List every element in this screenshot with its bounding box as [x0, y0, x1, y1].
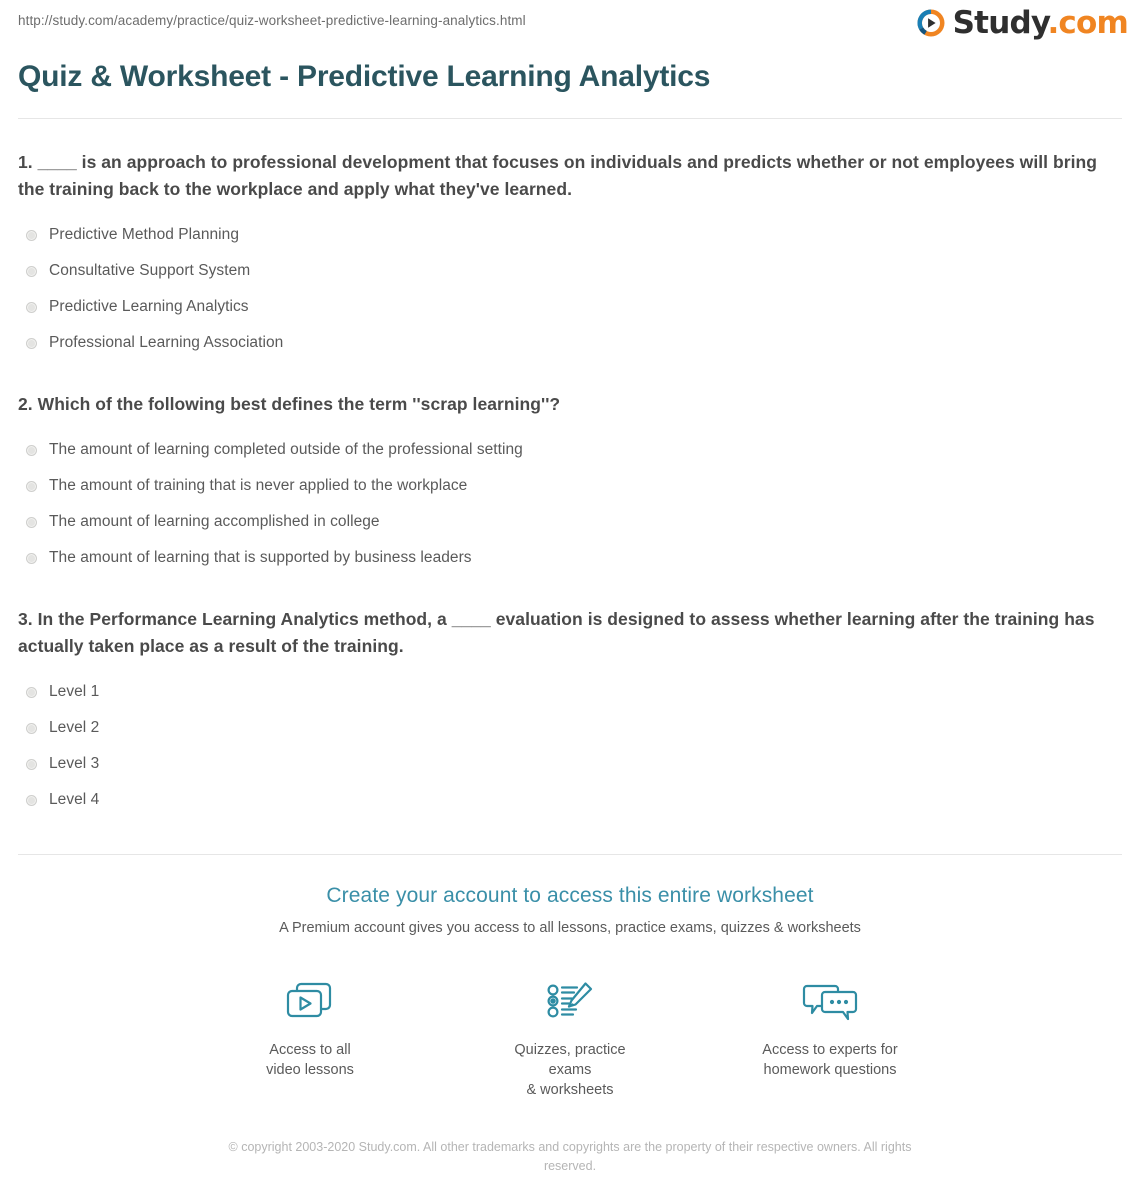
- logo-word-study: Study: [953, 5, 1048, 41]
- feature-label-quizzes: Quizzes, practice exams & worksheets: [494, 1040, 646, 1100]
- option-label: Predictive Learning Analytics: [49, 296, 249, 318]
- options-list-3: Level 1 Level 2 Level 3 Level 4: [18, 674, 1122, 818]
- feature-label-experts: Access to experts for homework questions: [754, 1040, 906, 1080]
- quiz-pencil-icon: [494, 975, 646, 1027]
- option-label: Level 1: [49, 681, 99, 703]
- radio-button-icon[interactable]: [26, 553, 37, 564]
- chat-bubbles-icon: [754, 975, 906, 1027]
- feature-experts: Access to experts for homework questions: [754, 975, 906, 1100]
- options-list-1: Predictive Method Planning Consultative …: [18, 217, 1122, 361]
- video-lessons-icon: [234, 975, 386, 1027]
- questions-container: 1. ____ is an approach to professional d…: [0, 119, 1140, 818]
- option-label: Level 3: [49, 753, 99, 775]
- radio-button-icon[interactable]: [26, 445, 37, 456]
- question-number-3: 3.: [18, 609, 33, 629]
- feature-label-line2: video lessons: [266, 1062, 354, 1078]
- logo-wordmark: Study.com: [953, 8, 1128, 38]
- option-row[interactable]: Predictive Method Planning: [18, 217, 1122, 253]
- feature-label-line2: & worksheets: [526, 1082, 613, 1098]
- features-row: Access to all video lessons: [0, 975, 1140, 1100]
- feature-label-line2: homework questions: [764, 1062, 897, 1078]
- feature-label-video: Access to all video lessons: [234, 1040, 386, 1080]
- options-list-2: The amount of learning completed outside…: [18, 432, 1122, 576]
- option-row[interactable]: Consultative Support System: [18, 253, 1122, 289]
- logo-word-com: .com: [1047, 5, 1128, 41]
- page-title: Quiz & Worksheet - Predictive Learning A…: [18, 58, 1122, 118]
- title-section: Quiz & Worksheet - Predictive Learning A…: [0, 52, 1140, 118]
- radio-button-icon[interactable]: [26, 338, 37, 349]
- question-text-1: 1. ____ is an approach to professional d…: [18, 149, 1122, 203]
- option-label: Level 2: [49, 717, 99, 739]
- question-block-1: 1. ____ is an approach to professional d…: [18, 119, 1122, 361]
- radio-button-icon[interactable]: [26, 723, 37, 734]
- study-com-logo[interactable]: Study.com: [916, 8, 1128, 38]
- feature-label-line1: Quizzes, practice exams: [514, 1042, 625, 1078]
- worksheet-page: http://study.com/academy/practice/quiz-w…: [0, 0, 1140, 1177]
- radio-button-icon[interactable]: [26, 302, 37, 313]
- question-body-2: Which of the following best defines the …: [38, 394, 561, 414]
- option-row[interactable]: The amount of learning that is supported…: [18, 540, 1122, 576]
- option-label: Predictive Method Planning: [49, 224, 239, 246]
- option-row[interactable]: Level 3: [18, 746, 1122, 782]
- question-number-2: 2.: [18, 394, 33, 414]
- option-row[interactable]: The amount of learning accomplished in c…: [18, 504, 1122, 540]
- option-label: Professional Learning Association: [49, 332, 283, 354]
- radio-button-icon[interactable]: [26, 687, 37, 698]
- feature-quizzes: Quizzes, practice exams & worksheets: [494, 975, 646, 1100]
- question-body-3: In the Performance Learning Analytics me…: [18, 609, 1095, 656]
- option-row[interactable]: Professional Learning Association: [18, 325, 1122, 361]
- option-row[interactable]: The amount of training that is never app…: [18, 468, 1122, 504]
- option-label: The amount of learning accomplished in c…: [49, 511, 380, 533]
- question-body-1: ____ is an approach to professional deve…: [18, 152, 1097, 199]
- question-block-2: 2. Which of the following best defines t…: [18, 361, 1122, 576]
- copyright-notice: © copyright 2003-2020 Study.com. All oth…: [210, 1138, 930, 1176]
- feature-label-line1: Access to all: [269, 1042, 350, 1058]
- option-row[interactable]: Level 1: [18, 674, 1122, 710]
- option-label: Consultative Support System: [49, 260, 250, 282]
- option-label: The amount of training that is never app…: [49, 475, 467, 497]
- radio-button-icon[interactable]: [26, 481, 37, 492]
- cta-headline-link[interactable]: Create your account to access this entir…: [0, 882, 1140, 910]
- option-label: Level 4: [49, 789, 99, 811]
- radio-button-icon[interactable]: [26, 230, 37, 241]
- option-row[interactable]: Level 2: [18, 710, 1122, 746]
- option-row[interactable]: Level 4: [18, 782, 1122, 818]
- option-label: The amount of learning completed outside…: [49, 439, 523, 461]
- page-header: http://study.com/academy/practice/quiz-w…: [0, 0, 1140, 52]
- option-row[interactable]: The amount of learning completed outside…: [18, 432, 1122, 468]
- feature-label-line1: Access to experts for: [762, 1042, 897, 1058]
- question-text-2: 2. Which of the following best defines t…: [18, 391, 1122, 418]
- radio-button-icon[interactable]: [26, 517, 37, 528]
- cta-section: Create your account to access this entir…: [0, 855, 1140, 1176]
- question-number-1: 1.: [18, 152, 33, 172]
- option-row[interactable]: Predictive Learning Analytics: [18, 289, 1122, 325]
- cta-subtext: A Premium account gives you access to al…: [0, 918, 1140, 939]
- feature-video-lessons: Access to all video lessons: [234, 975, 386, 1100]
- radio-button-icon[interactable]: [26, 266, 37, 277]
- radio-button-icon[interactable]: [26, 795, 37, 806]
- question-block-3: 3. In the Performance Learning Analytics…: [18, 576, 1122, 818]
- radio-button-icon[interactable]: [26, 759, 37, 770]
- question-text-3: 3. In the Performance Learning Analytics…: [18, 606, 1122, 660]
- play-circle-icon: [916, 8, 946, 38]
- option-label: The amount of learning that is supported…: [49, 547, 472, 569]
